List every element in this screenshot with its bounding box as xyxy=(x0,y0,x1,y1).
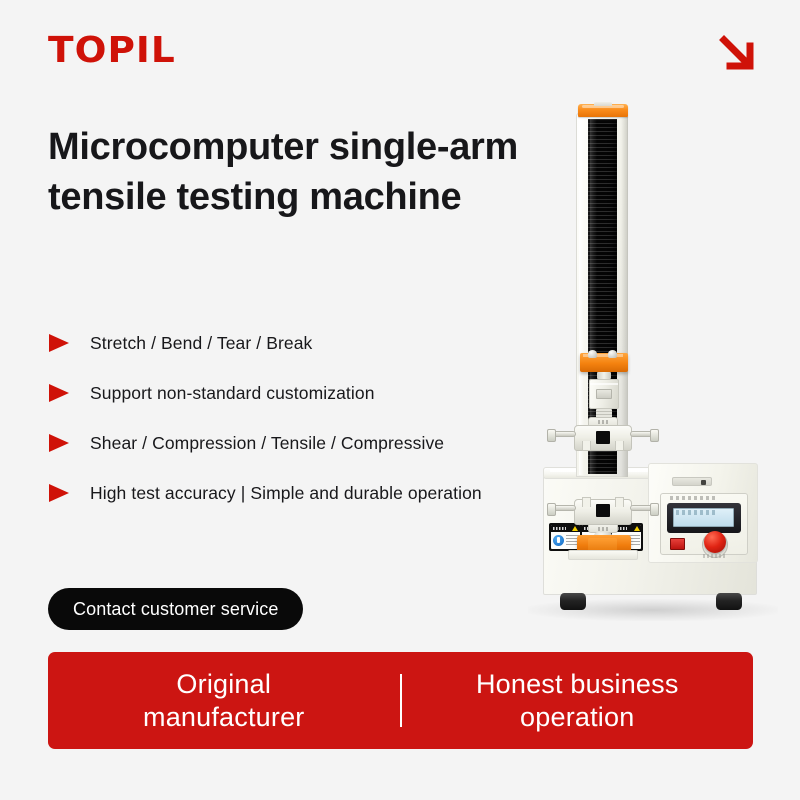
banner-line-2: manufacturer xyxy=(143,701,304,734)
page-title: Microcomputer single-arm tensile testing… xyxy=(48,122,528,222)
crosshead-bolt-left xyxy=(588,350,597,358)
warning-triangle-icon xyxy=(634,526,640,531)
panel-brand-mark xyxy=(670,496,716,500)
upper-grip-notch-left xyxy=(582,441,591,451)
upper-grip-jaw xyxy=(596,431,610,444)
triangle-bullet-icon xyxy=(48,483,70,503)
upper-grip xyxy=(574,417,632,451)
feature-label: Shear / Compression / Tensile / Compress… xyxy=(90,433,444,454)
contact-customer-service-button[interactable]: Contact customer service xyxy=(48,588,303,630)
triangle-bullet-icon xyxy=(48,333,70,353)
label-header-text xyxy=(553,527,566,530)
banner-line-1: Honest business xyxy=(476,668,679,701)
lower-grip-lever-left[interactable] xyxy=(548,505,576,511)
emergency-stop-label xyxy=(703,554,727,558)
power-rocker-switch[interactable] xyxy=(670,538,685,550)
lower-grip-lever-right[interactable] xyxy=(630,505,658,511)
feature-list: Stretch / Bend / Tear / Break Support no… xyxy=(48,318,548,518)
load-cell-ridge xyxy=(590,383,618,385)
lower-grip-notch-right xyxy=(615,497,624,507)
arrow-down-right-icon xyxy=(718,34,758,74)
rubber-foot-left xyxy=(560,593,586,610)
feature-label: High test accuracy | Simple and durable … xyxy=(90,483,482,504)
info-circle-icon xyxy=(553,535,564,546)
rubber-foot-right xyxy=(716,593,742,610)
upper-grip-notch-right xyxy=(615,441,624,451)
list-item: Support non-standard customization xyxy=(48,368,548,418)
column-cap-notch xyxy=(594,102,612,106)
triangle-bullet-icon xyxy=(48,433,70,453)
trust-banner: Original manufacturer Honest business op… xyxy=(48,652,753,749)
banner-cell-original-manufacturer: Original manufacturer xyxy=(48,652,400,749)
feature-label: Stretch / Bend / Tear / Break xyxy=(90,333,312,354)
brand-logo[interactable]: TOPIL xyxy=(48,30,176,71)
list-item: High test accuracy | Simple and durable … xyxy=(48,468,548,518)
list-item: Stretch / Bend / Tear / Break xyxy=(48,318,548,368)
lower-grip-notch-left xyxy=(582,497,591,507)
lower-grip-jaw xyxy=(596,504,610,517)
column-base-plate xyxy=(568,550,638,560)
emergency-stop-button[interactable] xyxy=(704,531,726,553)
lower-grip xyxy=(574,499,632,533)
banner-line-2: operation xyxy=(520,701,634,734)
panel-handle xyxy=(672,477,712,486)
feature-label: Support non-standard customization xyxy=(90,383,375,404)
promo-page: TOPIL Microcomputer single-arm tensile t… xyxy=(0,0,800,800)
load-cell-stem xyxy=(597,372,611,379)
banner-cell-honest-business: Honest business operation xyxy=(402,652,754,749)
product-image-tensile-testing-machine xyxy=(520,95,790,640)
list-item: Shear / Compression / Tensile / Compress… xyxy=(48,418,548,468)
lower-grip-mark xyxy=(598,527,608,531)
upper-grip-lever-right[interactable] xyxy=(630,431,658,437)
upper-grip-mark xyxy=(598,420,608,424)
triangle-bullet-icon xyxy=(48,383,70,403)
crosshead-bolt-right xyxy=(608,350,617,358)
banner-line-1: Original xyxy=(176,668,271,701)
lcd-digits xyxy=(676,510,716,515)
upper-grip-lever-left[interactable] xyxy=(548,431,576,437)
load-cell-window xyxy=(596,389,612,399)
